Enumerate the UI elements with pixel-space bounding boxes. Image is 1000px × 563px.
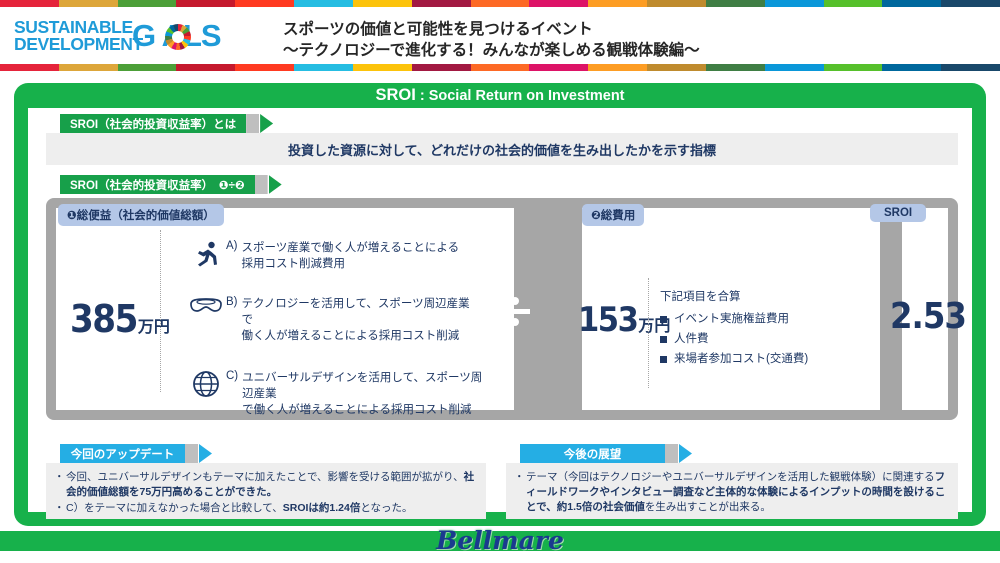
sdg-color-segment-4 — [176, 0, 235, 7]
sroi-frame-title: SROI : Social Return on Investment — [14, 86, 986, 105]
sdg-color-segment-11 — [588, 64, 647, 71]
sdg-color-segment-15 — [824, 0, 883, 7]
sroi-frame-title-sub: : Social Return on Investment — [416, 88, 625, 104]
sdg-color-segment-6 — [294, 0, 353, 7]
update-ribbon: 今回のアップデート — [60, 444, 212, 463]
sdg-color-segment-13 — [706, 64, 765, 71]
cost-list-item: イベント実施権益費用 — [660, 309, 830, 329]
total-cost-value: 153 — [578, 300, 637, 340]
sdg-color-segment-16 — [882, 64, 941, 71]
sdg-color-bar-top — [0, 0, 1000, 7]
benefit-divider — [160, 230, 161, 392]
sdg-color-segment-7 — [353, 64, 412, 71]
sdg-color-segment-5 — [235, 64, 294, 71]
sdg-color-segment-7 — [353, 0, 412, 7]
note-list-item: ・今回、ユニバーサルデザインもテーマに加えたことで、影響を受ける範囲が拡がり、社… — [54, 470, 476, 500]
definition-ribbon: SROI（社会的投資収益率）とは — [60, 114, 273, 133]
total-benefit-unit: 万円 — [138, 317, 170, 336]
outlook-ribbon: 今後の展望 — [520, 444, 692, 463]
cost-list-item-label: 来場者参加コスト(交通費) — [674, 349, 808, 369]
ribbon-notch — [246, 114, 259, 133]
total-cost-badge: ❷総費用 — [582, 204, 644, 226]
benefit-item-a-text: スポーツ産業で働く人が増えることによる 採用コスト削減費用 — [242, 240, 460, 272]
note-list-item: ・テーマ（今回はテクノロジーやユニバーサルデザインを活用した観戦体験）に関連する… — [514, 470, 948, 515]
sdg-color-segment-10 — [529, 0, 588, 7]
note-list-item: ・C）をテーマに加えなかった場合と比較して、SROIは約1.24倍となった。 — [54, 501, 476, 516]
sdg-color-segment-12 — [647, 64, 706, 71]
definition-band: 投資した資源に対して、どれだけの社会的価値を生み出したかを示す指標 — [46, 133, 958, 165]
total-benefit-badge: ❶総便益（社会的価値総額） — [58, 204, 224, 226]
sdg-color-segment-3 — [118, 64, 177, 71]
sdg-color-segment-15 — [824, 64, 883, 71]
sdg-color-segment-16 — [882, 0, 941, 7]
sdg-color-segment-14 — [765, 0, 824, 7]
bullet-square-icon — [660, 336, 667, 343]
slide-header: SUSTAINABLE DEVELOPMENT G ALS スポーツの価値と可能… — [0, 7, 1000, 64]
benefit-item-a-tag: A) — [226, 240, 238, 252]
ribbon-notch — [665, 444, 678, 463]
sroi-frame-title-main: SROI — [375, 86, 415, 104]
cost-list-head: 下記項目を合算 — [660, 288, 830, 304]
sdg-color-segment-5 — [235, 0, 294, 7]
sdg-color-segment-2 — [59, 0, 118, 7]
outlook-ribbon-label: 今後の展望 — [520, 444, 665, 463]
ribbon-arrow-icon — [679, 444, 692, 463]
sdg-color-segment-10 — [529, 64, 588, 71]
cost-list-item: 人件費 — [660, 329, 830, 349]
cost-breakdown-list: 下記項目を合算 イベント実施権益費用 人件費 来場者参加コスト(交通費) — [660, 288, 830, 369]
slide-root: SUSTAINABLE DEVELOPMENT G ALS スポーツの価値と可能… — [0, 0, 1000, 563]
note-bullet: ・ — [54, 501, 66, 516]
definition-ribbon-label: SROI（社会的投資収益率）とは — [60, 114, 246, 133]
sdg-color-segment-8 — [412, 0, 471, 7]
sdg-color-segment-2 — [59, 64, 118, 71]
sdg-color-segment-17 — [941, 64, 1000, 71]
sdg-wheel-icon — [165, 24, 191, 50]
note-text: C）をテーマに加えなかった場合と比較して、SROIは約1.24倍となった。 — [66, 501, 476, 516]
ribbon-arrow-icon — [199, 444, 212, 463]
total-cost-amount: 153万円 — [578, 300, 670, 340]
benefit-item-c: C) ユニバーサルデザインを活用して、スポーツ周辺産業 で働く人が増えることによ… — [186, 370, 486, 418]
cost-list-item-label: 人件費 — [674, 329, 709, 349]
equals-operator-icon — [838, 300, 866, 320]
globe-icon — [186, 370, 226, 398]
sdg-logo-line2: DEVELOPMENT — [14, 36, 143, 53]
bullet-square-icon — [660, 316, 667, 323]
sdg-color-segment-1 — [0, 64, 59, 71]
ribbon-arrow-icon — [260, 114, 273, 133]
ribbon-notch — [255, 175, 268, 194]
sroi-result-value: 2.53 — [890, 296, 966, 337]
update-note-box: ・今回、ユニバーサルデザインもテーマに加えたことで、影響を受ける範囲が拡がり、社… — [46, 463, 486, 519]
benefit-item-b-tag: B) — [226, 296, 238, 308]
sdg-color-segment-8 — [412, 64, 471, 71]
running-person-icon — [186, 240, 226, 268]
total-benefit-amount: 385万円 — [70, 297, 170, 341]
sdg-color-segment-12 — [647, 0, 706, 7]
sdg-logo: SUSTAINABLE DEVELOPMENT G ALS — [14, 19, 264, 55]
benefit-item-b-text: テクノロジーを活用して、スポーツ周辺産業で 働く人が増えることによる採用コスト削… — [242, 296, 477, 344]
note-bullet: ・ — [54, 470, 66, 500]
note-text: 今回、ユニバーサルデザインもテーマに加えたことで、影響を受ける範囲が拡がり、社会… — [66, 470, 476, 500]
benefit-item-c-text: ユニバーサルデザインを活用して、スポーツ周辺産業 で働く人が増えることによる採用… — [242, 370, 486, 418]
benefit-item-c-tag: C) — [226, 370, 238, 382]
sdg-color-segment-4 — [176, 64, 235, 71]
benefit-item-a: A) スポーツ産業で働く人が増えることによる 採用コスト削減費用 — [186, 240, 476, 272]
ribbon-arrow-icon — [269, 175, 282, 194]
bellmare-logo: Bellmare — [0, 526, 1000, 555]
sroi-result-badge: SROI — [870, 204, 926, 222]
sdg-color-segment-14 — [765, 64, 824, 71]
definition-text: 投資した資源に対して、どれだけの社会的価値を生み出したかを示す指標 — [288, 140, 716, 159]
divide-operator-icon — [500, 296, 530, 326]
note-text: テーマ（今回はテクノロジーやユニバーサルデザインを活用した観戦体験）に関連するフ… — [526, 470, 948, 515]
sdg-color-segment-1 — [0, 0, 59, 7]
update-ribbon-label: 今回のアップデート — [60, 444, 185, 463]
cost-list-item-label: イベント実施権益費用 — [674, 309, 789, 329]
sdg-color-segment-6 — [294, 64, 353, 71]
sdg-color-bar-bottom — [0, 64, 1000, 71]
bullet-square-icon — [660, 356, 667, 363]
sdg-color-segment-11 — [588, 0, 647, 7]
page-title: スポーツの価値と可能性を見つけるイベント ～テクノロジーで進化する！みんなが楽し… — [283, 19, 983, 61]
formula-ribbon-label: SROI（社会的投資収益率） ❶÷❷ — [60, 175, 255, 194]
sdg-color-segment-13 — [706, 0, 765, 7]
sdg-color-segment-9 — [471, 64, 530, 71]
vr-goggles-icon — [186, 296, 226, 320]
cost-divider — [648, 278, 649, 388]
outlook-note-box: ・テーマ（今回はテクノロジーやユニバーサルデザインを活用した観戦体験）に関連する… — [506, 463, 958, 519]
sdg-color-segment-17 — [941, 0, 1000, 7]
ribbon-notch — [185, 444, 198, 463]
benefit-item-b: B) テクノロジーを活用して、スポーツ周辺産業で 働く人が増えることによる採用コ… — [186, 296, 476, 344]
note-bullet: ・ — [514, 470, 526, 515]
sdg-color-segment-9 — [471, 0, 530, 7]
formula-ribbon: SROI（社会的投資収益率） ❶÷❷ — [60, 175, 282, 194]
cost-list-item: 来場者参加コスト(交通費) — [660, 349, 830, 369]
sdg-color-segment-3 — [118, 0, 177, 7]
total-benefit-value: 385 — [70, 297, 137, 341]
